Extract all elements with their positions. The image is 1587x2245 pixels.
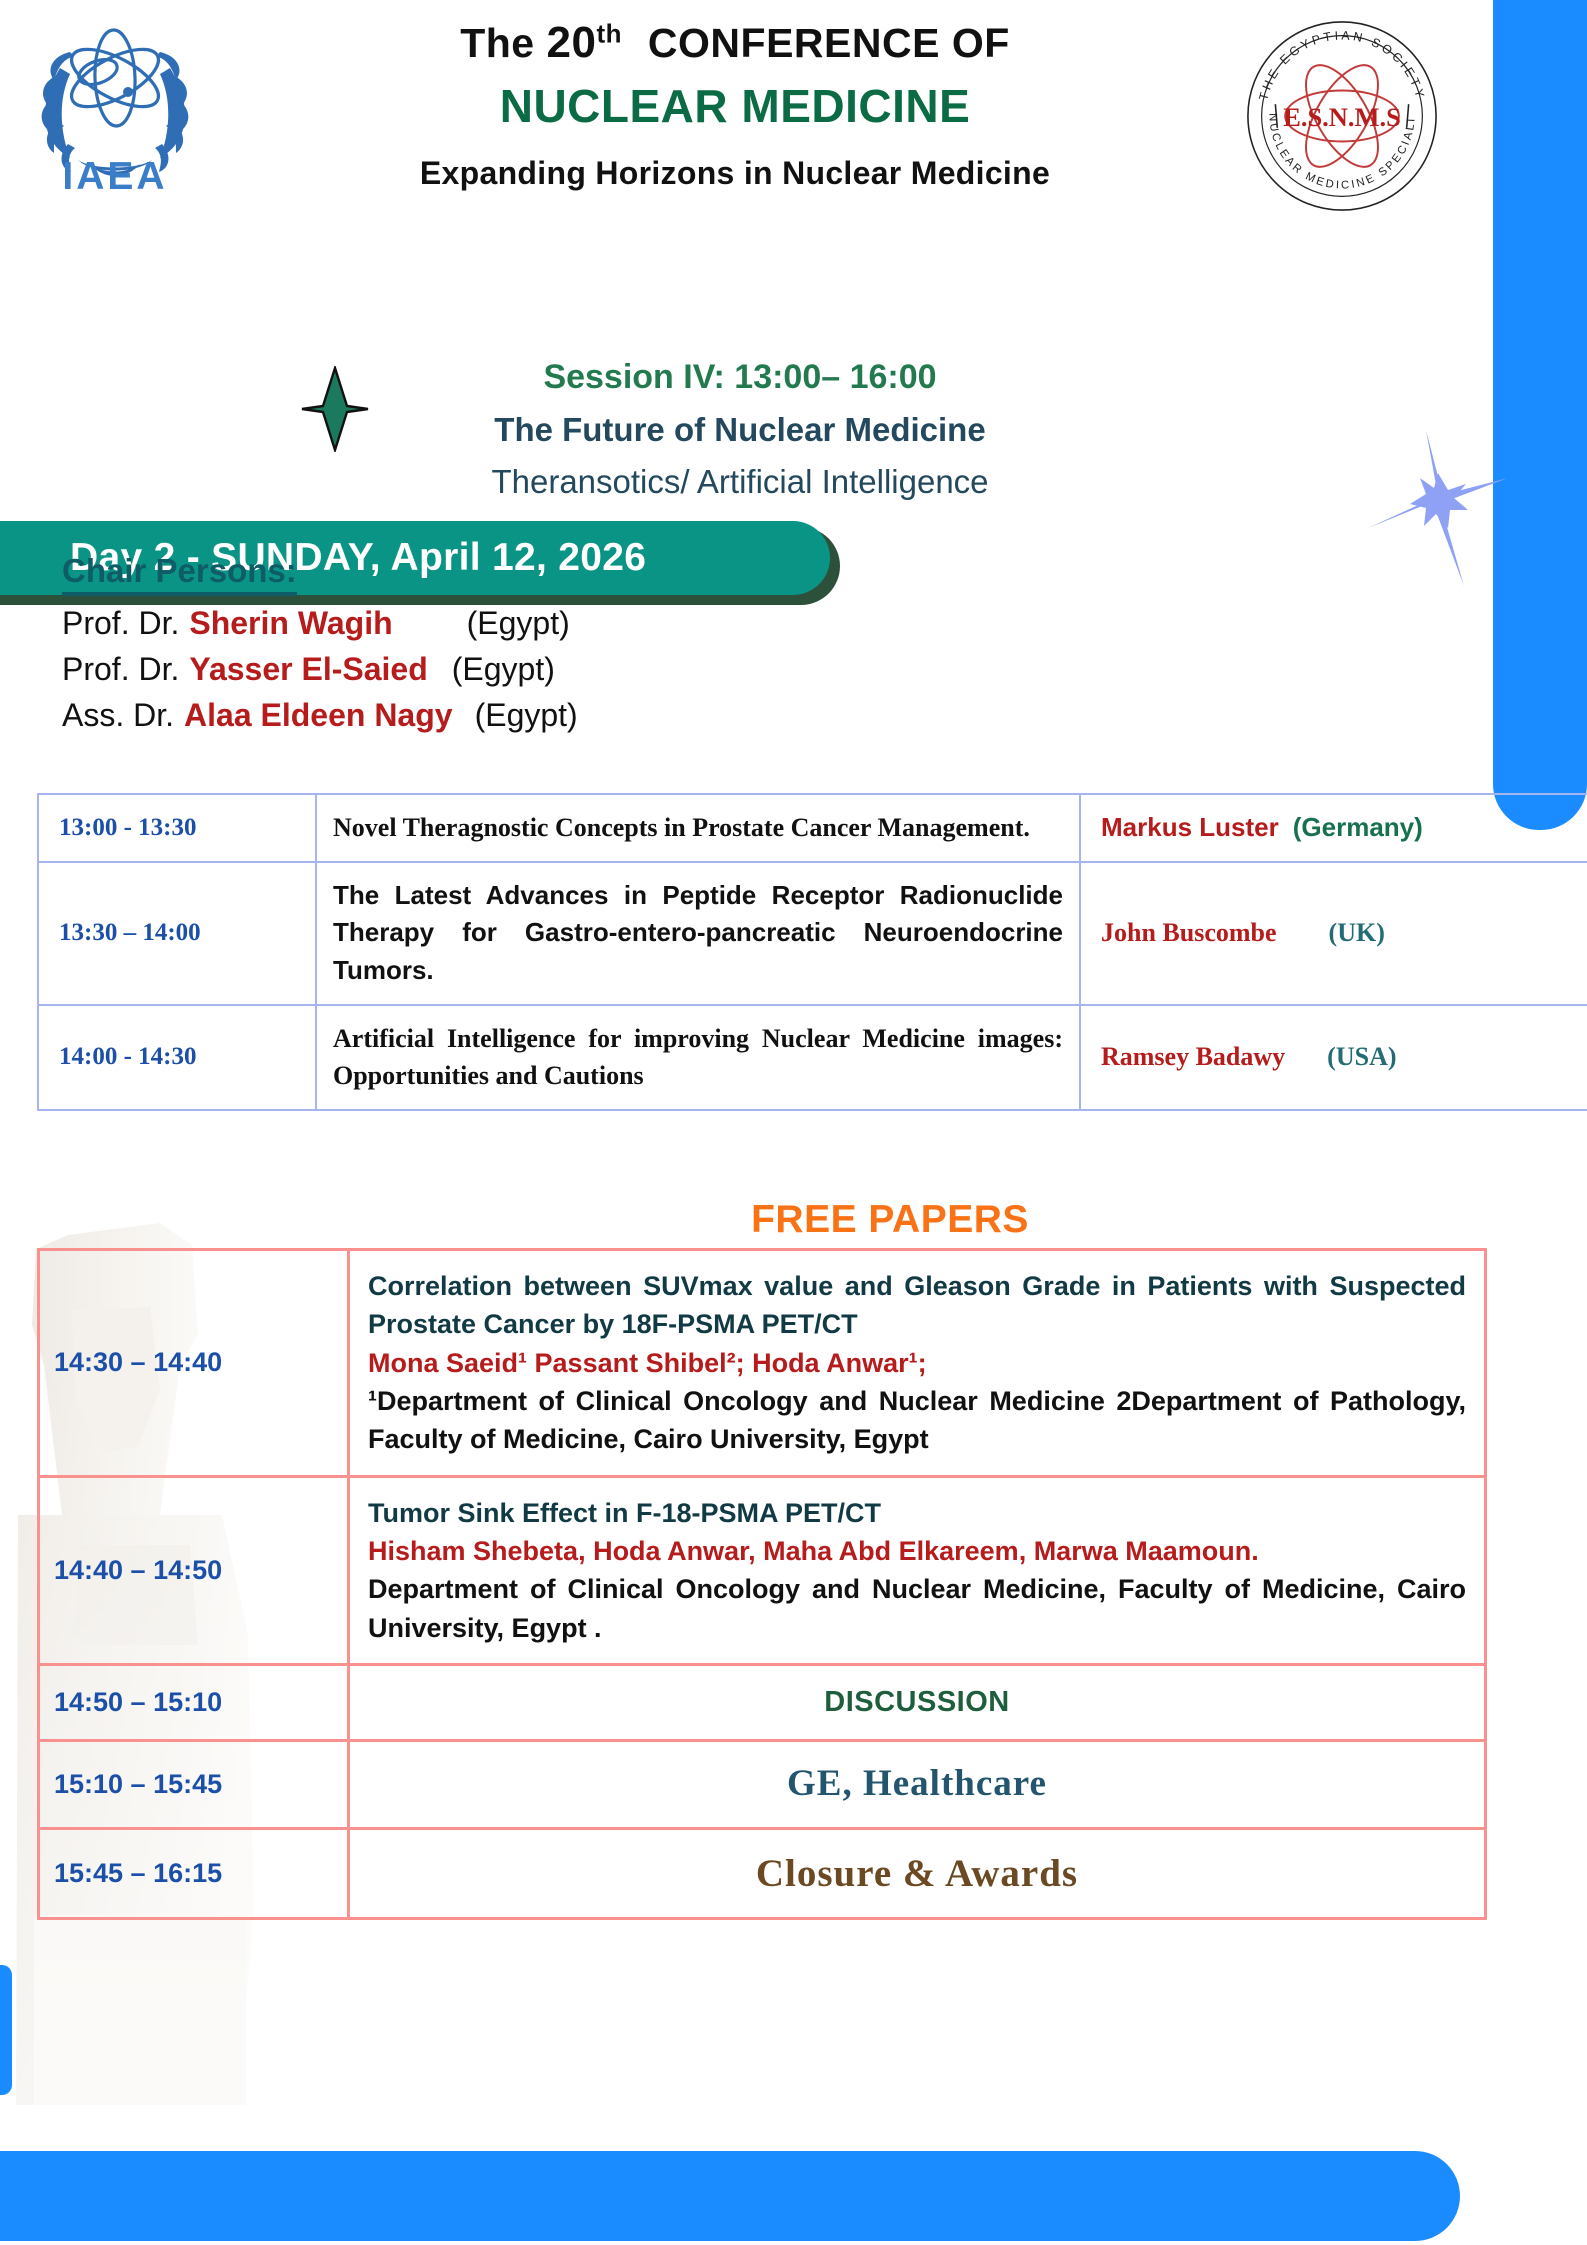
session-block: Session IV: 13:00– 16:00 The Future of N… bbox=[0, 358, 1480, 501]
speaker-country: (UK) bbox=[1329, 918, 1385, 947]
paper-authors: Hisham Shebeta, Hoda Anwar, Maha Abd Elk… bbox=[368, 1532, 1466, 1570]
table-row: 14:50 – 15:10 DISCUSSION bbox=[39, 1664, 1486, 1740]
paper-body: Tumor Sink Effect in F-18-PSMA PET/CT Hi… bbox=[349, 1476, 1486, 1664]
chair-row: Prof. Dr. Sherin Wagih (Egypt) bbox=[62, 605, 578, 642]
closure-time: 15:45 – 16:15 bbox=[39, 1828, 349, 1918]
esnms-logo-icon: THE EGYPTIAN SOCIETY OF NUCLEAR MEDICINE… bbox=[1244, 18, 1440, 214]
sponsor-time: 15:10 – 15:45 bbox=[39, 1741, 349, 1829]
lecture-speaker-cell: Ramsey Badawy(USA) bbox=[1080, 1005, 1587, 1110]
left-accent-nub bbox=[0, 1965, 12, 2095]
lecture-title: The Latest Advances in Peptide Receptor … bbox=[316, 862, 1080, 1005]
paper-title: Tumor Sink Effect in F-18-PSMA PET/CT bbox=[368, 1494, 1466, 1532]
paper-body: Correlation between SUVmax value and Gle… bbox=[349, 1250, 1486, 1477]
chair-country: (Egypt) bbox=[452, 651, 555, 688]
speaker-name: Ramsey Badawy bbox=[1101, 1042, 1285, 1071]
table-row: 13:30 – 14:00 The Latest Advances in Pep… bbox=[38, 862, 1587, 1005]
session-subtopic: Theransotics/ Artificial Intelligence bbox=[0, 463, 1480, 501]
conference-subtitle: Expanding Horizons in Nuclear Medicine bbox=[240, 155, 1230, 192]
title-line-one: The 20th CONFERENCE OF bbox=[240, 18, 1230, 69]
chair-prefix: Prof. Dr. bbox=[62, 651, 179, 688]
speaker-name: John Buscombe bbox=[1101, 918, 1277, 947]
chair-name: Alaa Eldeen Nagy bbox=[184, 697, 453, 734]
paper-authors: Mona Saeid¹ Passant Shibel²; Hoda Anwar¹… bbox=[368, 1344, 1466, 1382]
lecture-time: 13:00 - 13:30 bbox=[38, 794, 316, 862]
title-conference-of: CONFERENCE OF bbox=[648, 20, 1010, 66]
chair-country: (Egypt) bbox=[467, 605, 570, 642]
bottom-accent-bar bbox=[0, 2151, 1460, 2241]
chair-prefix: Prof. Dr. bbox=[62, 605, 179, 642]
page-header: IAEA The 20th CONFERENCE OF NUCLEAR MEDI… bbox=[0, 0, 1587, 255]
title-number: 20 bbox=[547, 18, 597, 67]
lectures-table: 13:00 - 13:30 Novel Theragnostic Concept… bbox=[37, 793, 1587, 1111]
paper-time: 14:30 – 14:40 bbox=[39, 1250, 349, 1477]
chair-row: Prof. Dr. Yasser El-Saied (Egypt) bbox=[62, 651, 578, 688]
table-row: 14:40 – 14:50 Tumor Sink Effect in F-18-… bbox=[39, 1476, 1486, 1664]
chair-persons-heading: Chair Persons: bbox=[62, 552, 297, 596]
paper-time: 14:40 – 14:50 bbox=[39, 1476, 349, 1664]
title-ordinal: th bbox=[596, 18, 622, 48]
paper-affiliation: ¹Department of Clinical Oncology and Nuc… bbox=[368, 1382, 1466, 1459]
lecture-time: 13:30 – 14:00 bbox=[38, 862, 316, 1005]
closure-label: Closure & Awards bbox=[756, 1852, 1078, 1895]
lecture-speaker-cell: Markus Luster(Germany) bbox=[1080, 794, 1587, 862]
table-row: 13:00 - 13:30 Novel Theragnostic Concept… bbox=[38, 794, 1587, 862]
lecture-title: Novel Theragnostic Concepts in Prostate … bbox=[316, 794, 1080, 862]
session-topic-title: The Future of Nuclear Medicine bbox=[0, 411, 1480, 449]
chair-name: Sherin Wagih bbox=[189, 605, 392, 642]
table-row: 15:45 – 16:15 Closure & Awards bbox=[39, 1828, 1486, 1918]
sponsor-cell: GE, Healthcare bbox=[349, 1741, 1486, 1829]
sponsor-label: GE, Healthcare bbox=[787, 1763, 1047, 1804]
lecture-time: 14:00 - 14:30 bbox=[38, 1005, 316, 1110]
title-prefix: The bbox=[460, 20, 534, 66]
discussion-time: 14:50 – 15:10 bbox=[39, 1664, 349, 1740]
conference-title-block: The 20th CONFERENCE OF NUCLEAR MEDICINE … bbox=[240, 18, 1230, 192]
free-papers-heading: FREE PAPERS bbox=[300, 1198, 1480, 1242]
chair-country: (Egypt) bbox=[475, 697, 578, 734]
table-row: 14:30 – 14:40 Correlation between SUVmax… bbox=[39, 1250, 1486, 1477]
session-time-title: Session IV: 13:00– 16:00 bbox=[0, 358, 1480, 397]
iaea-wordmark: IAEA bbox=[30, 155, 200, 199]
closure-cell: Closure & Awards bbox=[349, 1828, 1486, 1918]
speaker-country: (Germany) bbox=[1293, 812, 1423, 842]
free-papers-table: 14:30 – 14:40 Correlation between SUVmax… bbox=[37, 1248, 1487, 1920]
chair-name: Yasser El-Saied bbox=[189, 651, 427, 688]
title-main: NUCLEAR MEDICINE bbox=[240, 79, 1230, 133]
speaker-name: Markus Luster bbox=[1101, 812, 1279, 842]
diamond-sparkle-icon bbox=[300, 366, 370, 452]
lecture-title: Artificial Intelligence for improving Nu… bbox=[316, 1005, 1080, 1110]
discussion-cell: DISCUSSION bbox=[349, 1664, 1486, 1740]
chair-persons-block: Chair Persons: Prof. Dr. Sherin Wagih (E… bbox=[62, 552, 578, 734]
speaker-country: (USA) bbox=[1327, 1042, 1396, 1071]
discussion-label: DISCUSSION bbox=[824, 1686, 1009, 1718]
chair-prefix: Ass. Dr. bbox=[62, 697, 174, 734]
paper-title: Correlation between SUVmax value and Gle… bbox=[368, 1267, 1466, 1344]
table-row: 14:00 - 14:30 Artificial Intelligence fo… bbox=[38, 1005, 1587, 1110]
chair-row: Ass. Dr. Alaa Eldeen Nagy (Egypt) bbox=[62, 697, 578, 734]
day-banner-wrap: Day 2 - SUNDAY, April 12, 2026 bbox=[0, 255, 1587, 343]
table-row: 15:10 – 15:45 GE, Healthcare bbox=[39, 1741, 1486, 1829]
lecture-speaker-cell: John Buscombe(UK) bbox=[1080, 862, 1587, 1005]
paper-affiliation: Department of Clinical Oncology and Nucl… bbox=[368, 1570, 1466, 1647]
esnms-acronym: E.S.N.M.S bbox=[1283, 102, 1401, 132]
